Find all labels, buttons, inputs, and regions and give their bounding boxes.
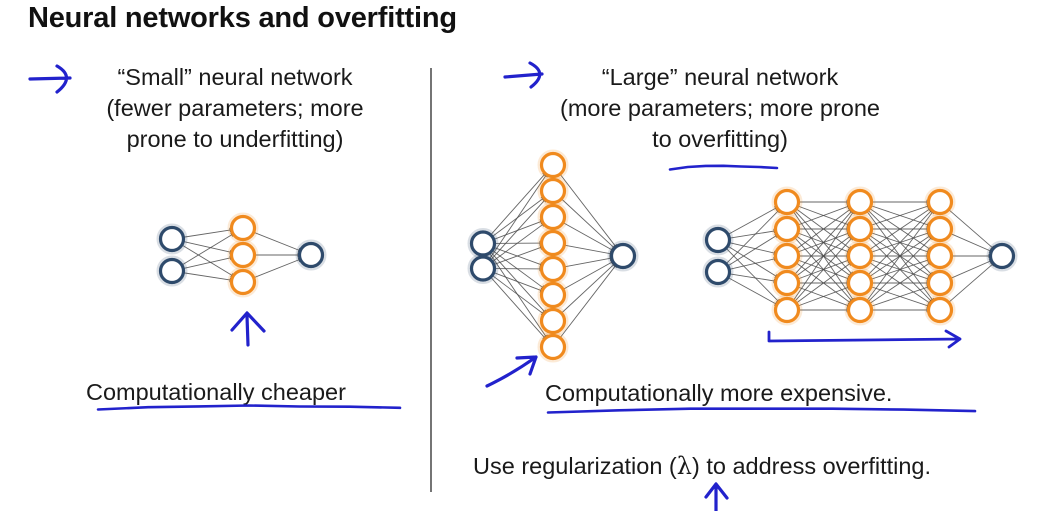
small-network-hidden-node-3 bbox=[232, 271, 255, 294]
network-edge bbox=[869, 205, 933, 227]
deep-network-hidden-node-2 bbox=[776, 218, 799, 241]
wide-network-output-node-1 bbox=[612, 245, 635, 268]
deep-network-input-node-2 bbox=[707, 261, 730, 284]
wide-network-hidden-node-3 bbox=[542, 206, 565, 229]
small-network-input-node-1 bbox=[161, 228, 184, 251]
network-edge bbox=[795, 286, 853, 307]
small-network-output-node-1 bbox=[300, 244, 323, 267]
network-edge bbox=[869, 232, 933, 254]
deep-network-hidden-node-2 bbox=[929, 218, 952, 241]
small-network-up-arrow-icon bbox=[232, 313, 264, 345]
right-caption-arrow-icon bbox=[505, 63, 542, 87]
deep-network-input-node-1 bbox=[707, 229, 730, 252]
deep-network-hidden-node-3 bbox=[849, 245, 872, 268]
network-edge bbox=[491, 220, 546, 241]
network-edge bbox=[795, 205, 853, 226]
wide-network-input-node-1 bbox=[472, 232, 495, 255]
network-edge bbox=[795, 286, 853, 307]
deep-network-hidden-node-5 bbox=[929, 299, 952, 322]
deep-network-bracket-icon bbox=[769, 331, 960, 347]
deep-network-hidden-node-2 bbox=[849, 218, 872, 241]
network-edge bbox=[869, 286, 933, 308]
deep-network-hidden-node-4 bbox=[929, 272, 952, 295]
wide-network-hidden-node-5 bbox=[542, 258, 565, 281]
deep-network-hidden-node-4 bbox=[849, 272, 872, 295]
network-edge bbox=[491, 272, 546, 293]
network-edge bbox=[181, 257, 236, 269]
deep-network-hidden-node-1 bbox=[776, 191, 799, 214]
deep-network-hidden-node-5 bbox=[776, 299, 799, 322]
network-edge bbox=[869, 259, 933, 281]
wide-network-input-node-2 bbox=[472, 257, 495, 280]
left-caption-arrow-icon bbox=[30, 66, 70, 92]
deep-network-output-node-1 bbox=[991, 245, 1014, 268]
slide-canvas: Neural networks and overfitting “Small” … bbox=[0, 0, 1043, 511]
network-edge bbox=[251, 231, 304, 252]
network-edge bbox=[869, 285, 933, 307]
wide-network-hidden-node-7 bbox=[542, 310, 565, 333]
small-network-hidden-node-2 bbox=[232, 244, 255, 267]
network-edge bbox=[795, 232, 853, 253]
network-edge bbox=[793, 208, 855, 277]
wide-network-diagonal-arrow-icon bbox=[487, 357, 536, 386]
deep-network-hidden-node-4 bbox=[776, 272, 799, 295]
deep-network-hidden-node-1 bbox=[929, 191, 952, 214]
deep-network-hidden-node-1 bbox=[849, 191, 872, 214]
network-edge bbox=[727, 273, 780, 281]
wide-network-hidden-node-6 bbox=[542, 284, 565, 307]
computationally-cheaper-underline bbox=[98, 406, 400, 410]
network-edge bbox=[795, 259, 853, 280]
small-network-hidden-node-1 bbox=[232, 217, 255, 240]
deep-network-hidden-node-5 bbox=[849, 299, 872, 322]
network-edge bbox=[181, 272, 236, 280]
deep-network-hidden-node-3 bbox=[776, 245, 799, 268]
wide-network-hidden-node-4 bbox=[542, 232, 565, 255]
diagram-graphics bbox=[0, 0, 1043, 511]
wide-network-hidden-node-2 bbox=[542, 180, 565, 203]
network-edge bbox=[489, 250, 548, 315]
network-edge bbox=[562, 257, 616, 267]
wide-network-hidden-node-8 bbox=[542, 336, 565, 359]
network-edge bbox=[489, 197, 548, 262]
network-edge bbox=[562, 245, 616, 255]
network-edge bbox=[181, 229, 236, 237]
small-network-input-node-2 bbox=[161, 260, 184, 283]
regularization-up-arrow-icon bbox=[706, 484, 727, 511]
deep-network-hidden-node-3 bbox=[929, 245, 952, 268]
network-edge bbox=[181, 241, 236, 253]
network-edge bbox=[727, 258, 780, 270]
network-edge bbox=[727, 242, 780, 254]
network-edge bbox=[869, 204, 933, 226]
network-edge bbox=[727, 230, 780, 238]
computationally-expensive-underline bbox=[548, 409, 975, 413]
wide-network-hidden-node-1 bbox=[542, 154, 565, 177]
network-edge bbox=[795, 205, 853, 226]
network-edge bbox=[251, 258, 304, 279]
overfitting-underline bbox=[670, 166, 777, 170]
